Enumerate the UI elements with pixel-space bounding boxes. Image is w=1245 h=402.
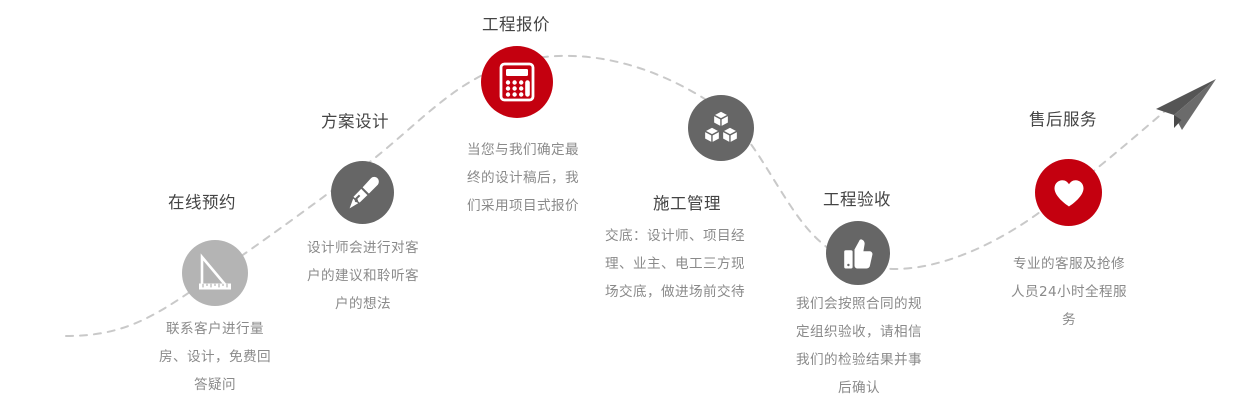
desc-line: 人员24小时全程服	[994, 278, 1144, 306]
desc-line: 交底：设计师、项目经	[605, 222, 780, 250]
desc-line: 户的建议和聆听客	[288, 262, 438, 290]
calculator-icon[interactable]	[481, 46, 553, 118]
step-title-scheme-design: 方案设计	[321, 112, 389, 132]
desc-line: 理、业主、电工三方现	[605, 250, 780, 278]
desc-line: 设计师会进行对客	[288, 234, 438, 262]
step-desc-after-sales-service: 专业的客服及抢修 人员24小时全程服 务	[994, 250, 1144, 334]
desc-line: 联系客户进行量	[135, 315, 295, 343]
process-flow-diagram: 在线预约 联系客户进行量 房、设计，免费回 答疑问	[0, 0, 1245, 402]
desc-line: 专业的客服及抢修	[994, 250, 1144, 278]
desc-line: 场交底，做进场前交待	[605, 278, 780, 306]
desc-line: 房、设计，免费回	[135, 343, 295, 371]
step-title-after-sales-service: 售后服务	[1029, 110, 1097, 130]
desc-line: 我们会按照合同的规	[783, 290, 935, 318]
heart-icon[interactable]	[1035, 159, 1102, 226]
triangle-ruler-icon[interactable]	[182, 240, 248, 306]
desc-line: 户的想法	[288, 290, 438, 318]
desc-line: 答疑问	[135, 371, 295, 399]
desc-line: 终的设计稿后，我	[448, 164, 598, 192]
step-desc-construction-management: 交底：设计师、项目经 理、业主、电工三方现 场交底，做进场前交待	[605, 198, 780, 306]
thumbs-up-icon[interactable]	[826, 221, 890, 285]
paper-plane-icon	[1148, 76, 1220, 142]
step-title-online-booking: 在线预约	[168, 193, 236, 213]
boxes-icon[interactable]	[688, 95, 754, 161]
fountain-pen-icon[interactable]	[331, 161, 394, 224]
step-desc-project-acceptance: 我们会按照合同的规 定组织验收，请相信 我们的检验结果并事 后确认	[783, 290, 935, 402]
desc-line: 后确认	[783, 374, 935, 402]
desc-line: 我们的检验结果并事	[783, 346, 935, 374]
step-title-project-quotation: 工程报价	[482, 15, 550, 35]
desc-line: 务	[994, 306, 1144, 334]
step-title-project-acceptance: 工程验收	[823, 190, 891, 210]
step-desc-project-quotation: 当您与我们确定最 终的设计稿后，我 们采用项目式报价	[448, 136, 598, 220]
desc-line: 定组织验收，请相信	[783, 318, 935, 346]
step-desc-scheme-design: 设计师会进行对客 户的建议和聆听客 户的想法	[288, 234, 438, 318]
desc-line: 们采用项目式报价	[448, 192, 598, 220]
desc-line: 当您与我们确定最	[448, 136, 598, 164]
step-desc-online-booking: 联系客户进行量 房、设计，免费回 答疑问	[135, 315, 295, 399]
